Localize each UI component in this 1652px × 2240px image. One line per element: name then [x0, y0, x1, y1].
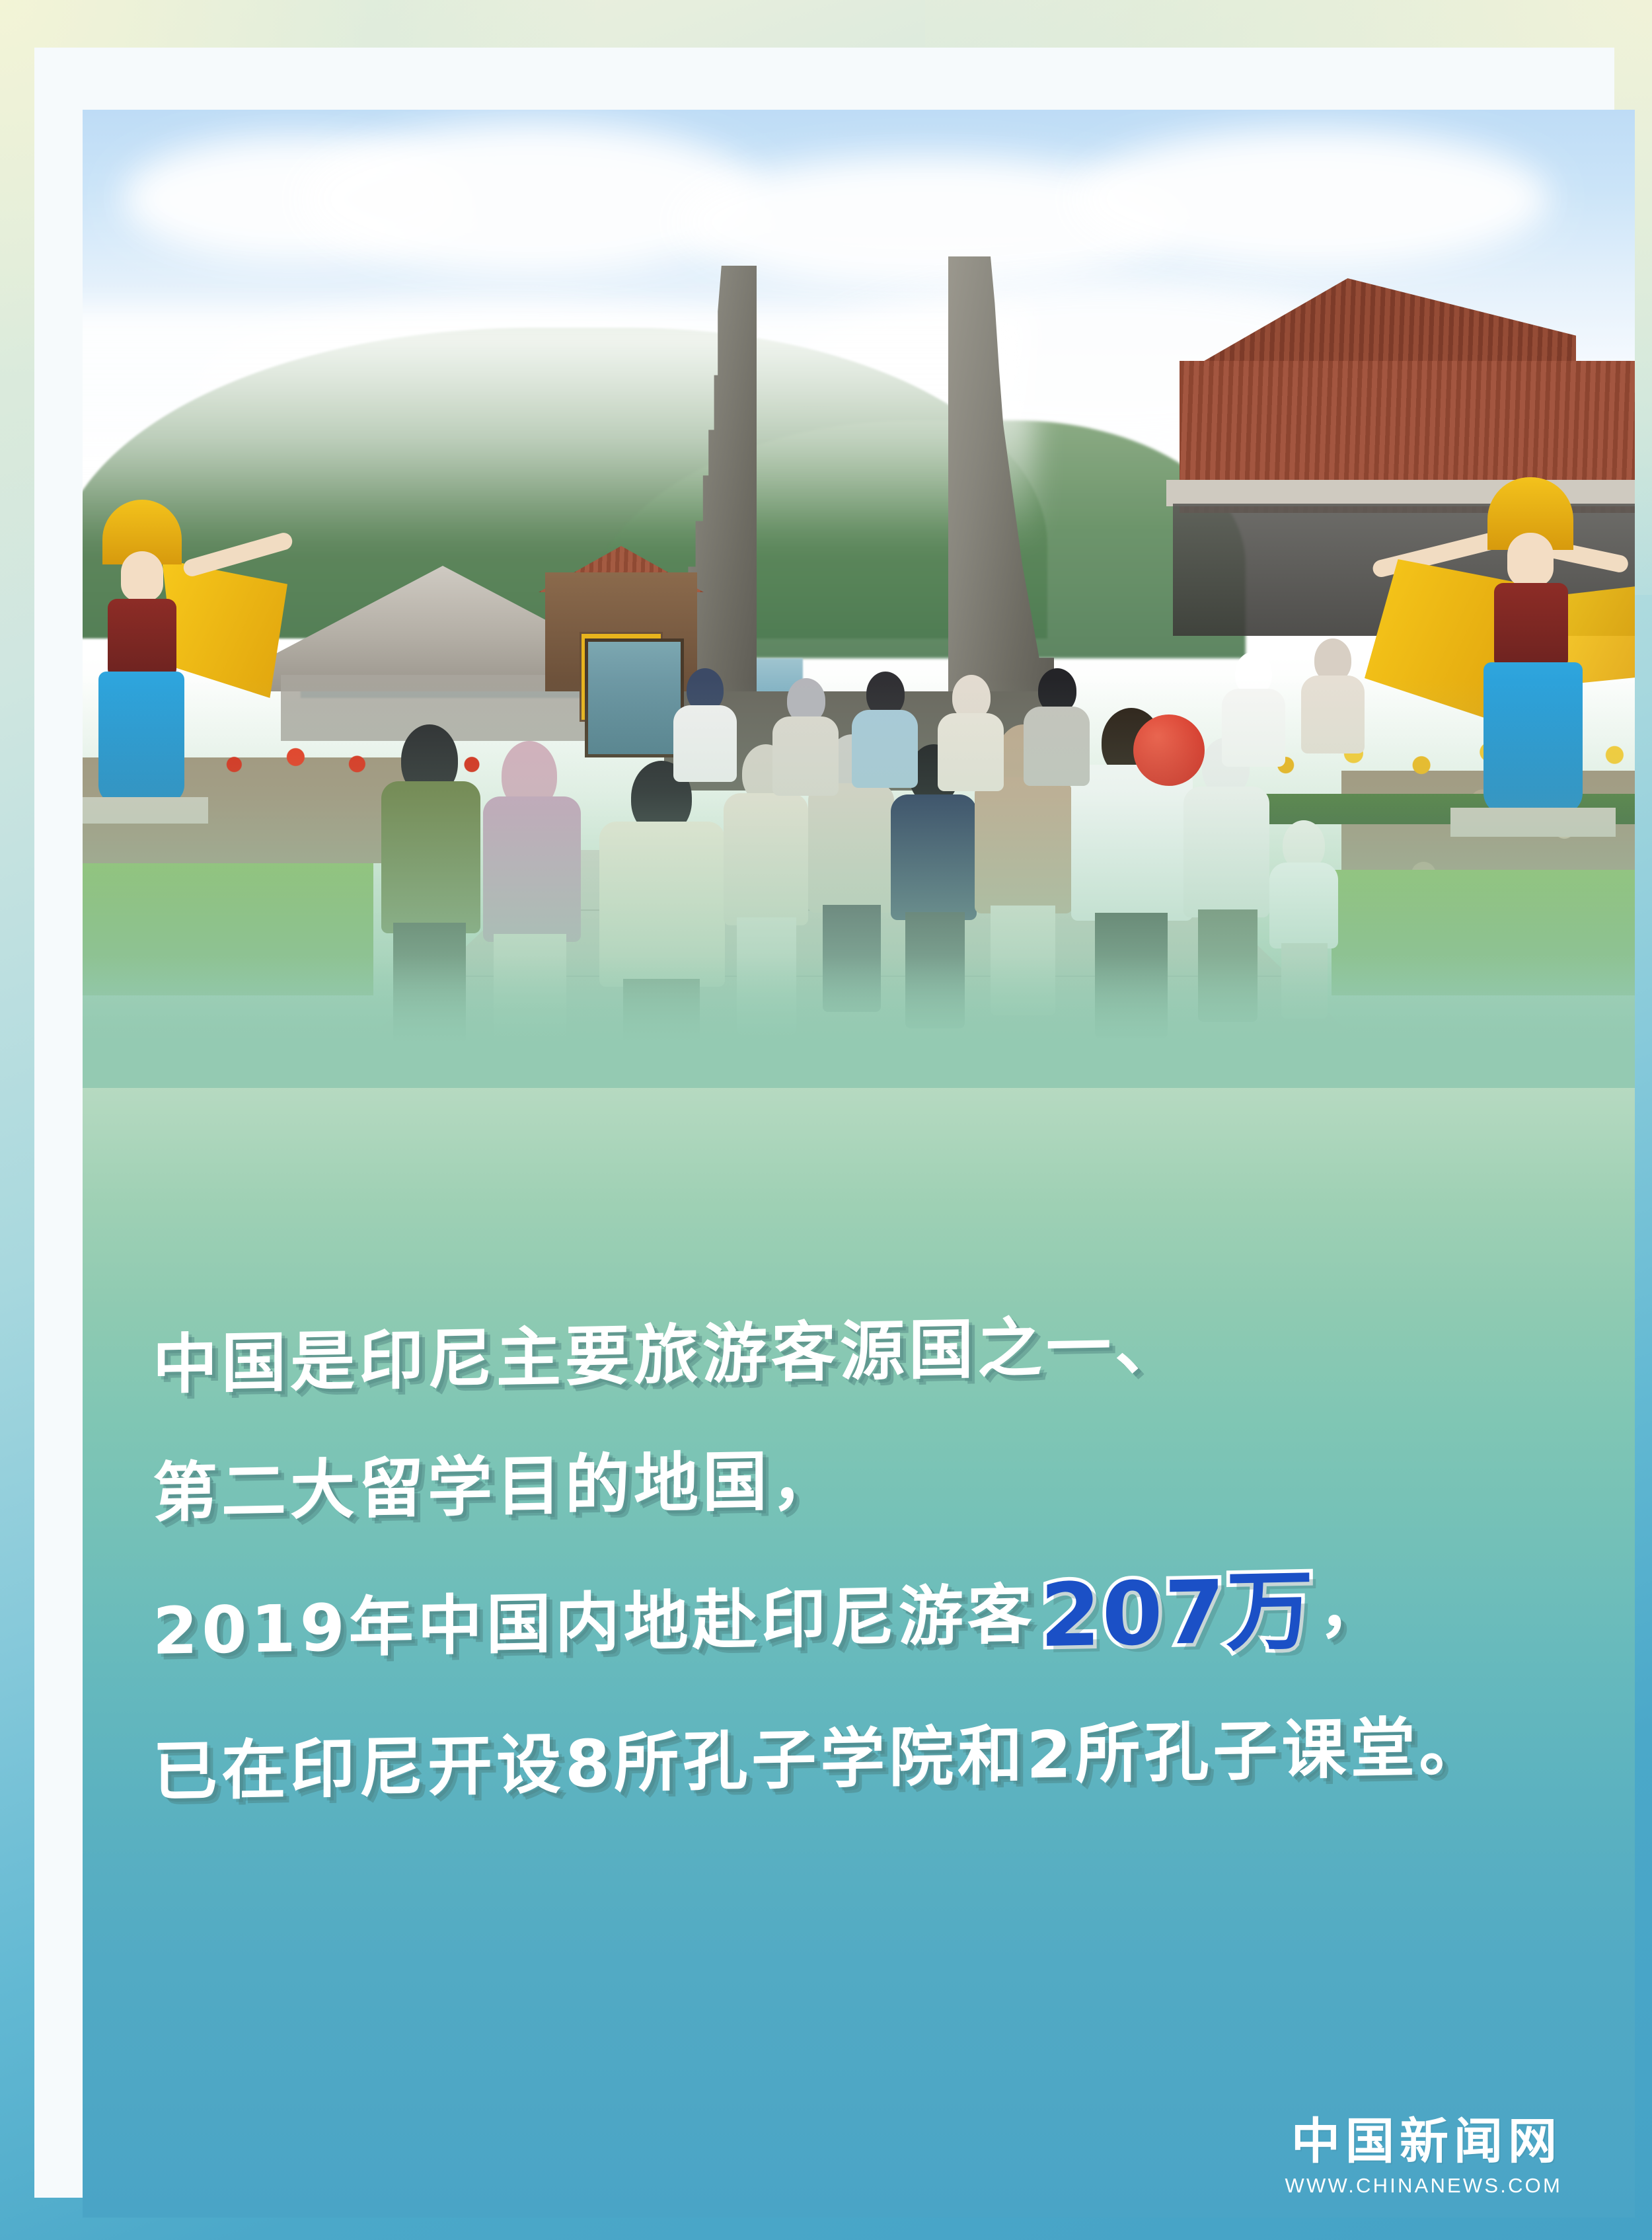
person-visitor: [1298, 638, 1368, 797]
balinese-dancer-statue-left: [83, 480, 301, 810]
chinanews-logo[interactable]: 中国新闻网 WWW.CHINANEWS.COM: [1285, 2117, 1562, 2198]
headline-copy: 中国是印尼主要旅游客源国之一、 第二大留学目的地国， 2019年中国内地赴印尼游…: [153, 1319, 1593, 1791]
frame-bottom-gap: [1340, 2226, 1607, 2240]
person-visitor: [849, 672, 922, 837]
person-visitor: [935, 675, 1008, 840]
logo-wordmark-cn: 中国新闻网: [1285, 2117, 1562, 2166]
person-visitor: [671, 668, 740, 827]
white-frame-border: 中国是印尼主要旅游客源国之一、 第二大留学目的地国， 2019年中国内地赴印尼游…: [34, 48, 1614, 2198]
stat-highlight-207wan: 207万: [1040, 1560, 1315, 1667]
logo-website-url: WWW.CHINANEWS.COM: [1285, 2174, 1562, 2198]
copy-line-3-suffix: ，: [1318, 1570, 1387, 1647]
balinese-dancer-statue-right: [1358, 467, 1635, 837]
announcement-board: [585, 638, 684, 757]
poster-root: 中国是印尼主要旅游客源国之一、 第二大留学目的地国， 2019年中国内地赴印尼游…: [0, 0, 1652, 2240]
cloud: [1074, 130, 1550, 268]
copy-line-2: 第二大留学目的地国，: [153, 1434, 1593, 1526]
copy-line-4: 已在印尼开设8所孔子学院和2所孔子课堂。: [153, 1713, 1593, 1805]
person-visitor: [472, 741, 591, 1065]
red-balloon: [1133, 714, 1205, 786]
person-visitor: [770, 678, 843, 850]
copy-line-3: 2019年中国内地赴印尼游客207万，: [153, 1562, 1593, 1677]
lawn-right: [1332, 870, 1635, 995]
hero-photo: [83, 110, 1635, 1088]
person-visitor: [1219, 652, 1289, 810]
person-child: [1265, 820, 1345, 1019]
person-visitor: [1021, 668, 1094, 833]
lawn-left: [83, 863, 373, 995]
copy-line-3-prefix: 2019年中国内地赴印尼游客: [153, 1577, 1036, 1670]
copy-line-1: 中国是印尼主要旅游客源国之一、: [153, 1305, 1593, 1398]
content-panel: 中国是印尼主要旅游客源国之一、 第二大留学目的地国， 2019年中国内地赴印尼游…: [83, 110, 1635, 2218]
